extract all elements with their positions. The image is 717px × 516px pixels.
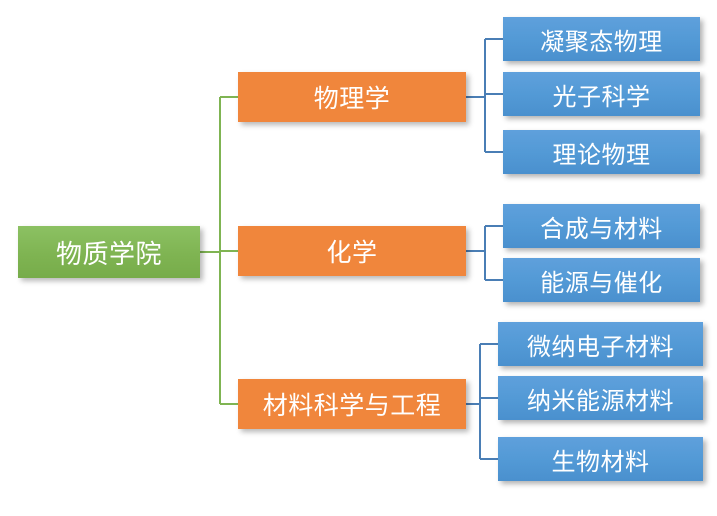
- leaf-node-2-0-label: 微纳电子材料: [527, 327, 674, 362]
- leaf-node-1-1[interactable]: 能源与催化: [503, 258, 700, 302]
- leaf-node-2-1[interactable]: 纳米能源材料: [498, 376, 703, 420]
- branch-node-1[interactable]: 化学: [238, 226, 466, 276]
- branch-node-1-label: 化学: [326, 233, 377, 269]
- leaf-node-0-2-label: 理论物理: [553, 135, 651, 170]
- branch-node-0-label: 物理学: [314, 79, 391, 115]
- branch-node-2[interactable]: 材料科学与工程: [238, 379, 466, 429]
- leaf-node-1-1-label: 能源与催化: [540, 263, 663, 298]
- diagram-canvas: 物质学院物理学凝聚态物理光子科学理论物理化学合成与材料能源与催化材料科学与工程微…: [0, 0, 717, 516]
- leaf-node-1-0[interactable]: 合成与材料: [503, 204, 700, 248]
- leaf-node-0-0-label: 凝聚态物理: [540, 22, 663, 57]
- leaf-node-2-2-label: 生物材料: [552, 442, 650, 477]
- root-node[interactable]: 物质学院: [18, 226, 200, 278]
- branch-node-2-label: 材料科学与工程: [263, 386, 442, 422]
- leaf-node-0-2[interactable]: 理论物理: [503, 130, 700, 174]
- leaf-node-2-1-label: 纳米能源材料: [527, 381, 674, 416]
- leaf-node-0-1-label: 光子科学: [553, 77, 651, 112]
- root-node-label: 物质学院: [56, 234, 162, 271]
- leaf-node-1-0-label: 合成与材料: [540, 209, 663, 244]
- leaf-node-2-2[interactable]: 生物材料: [498, 437, 703, 481]
- leaf-node-0-1[interactable]: 光子科学: [503, 72, 700, 116]
- leaf-node-0-0[interactable]: 凝聚态物理: [503, 17, 700, 61]
- branch-node-0[interactable]: 物理学: [238, 72, 466, 122]
- leaf-node-2-0[interactable]: 微纳电子材料: [498, 322, 703, 366]
